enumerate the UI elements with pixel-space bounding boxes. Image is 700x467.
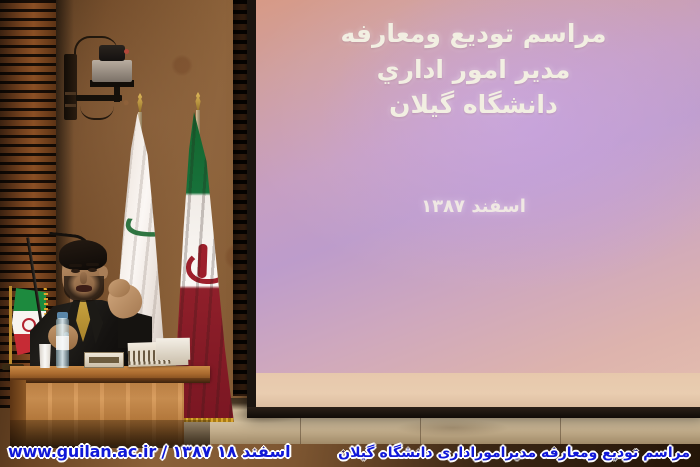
camera-wall-bracket [64, 54, 77, 120]
podium-shadow [10, 420, 210, 448]
speaker-eye-right [88, 268, 97, 272]
camera-wiring [80, 102, 114, 120]
speaker-mouth [76, 285, 92, 292]
screen-lower-band [256, 373, 700, 407]
desk-flag-pole [9, 286, 12, 366]
screenshot-root: مراسم توديع ومعارفه مدير امور اداري دانش… [0, 0, 700, 467]
camera-body [92, 60, 132, 82]
paper-cup [38, 344, 52, 368]
speaker-hair [59, 240, 107, 270]
slide-line-2: مدير امور اداري [256, 52, 691, 88]
speaker-eye-left [71, 269, 80, 273]
screen-frame-bottom-bar [247, 407, 700, 418]
slide-line-1: مراسم توديع ومعارفه [256, 16, 691, 52]
speaker-eyebrow-left [69, 264, 82, 267]
camera-lens [99, 45, 125, 61]
projection-screen: مراسم توديع ومعارفه مدير امور اداري دانش… [256, 0, 700, 407]
speaker-eyebrow-right [86, 263, 99, 266]
water-bottle-label [56, 336, 69, 350]
camera-led-icon [124, 49, 129, 54]
projection-screen-frame: مراسم توديع ومعارفه مدير امور اداري دانش… [247, 0, 700, 418]
tissue-box [156, 338, 190, 361]
name-plate [84, 352, 124, 368]
slide-line-3: دانشگاه گيلان [256, 87, 691, 123]
slide-title-block: مراسم توديع ومعارفه مدير امور اداري دانش… [256, 16, 691, 123]
slide-date: اسفند ۱۳۸۷ [256, 196, 691, 217]
wall-mounted-camera [62, 32, 140, 130]
